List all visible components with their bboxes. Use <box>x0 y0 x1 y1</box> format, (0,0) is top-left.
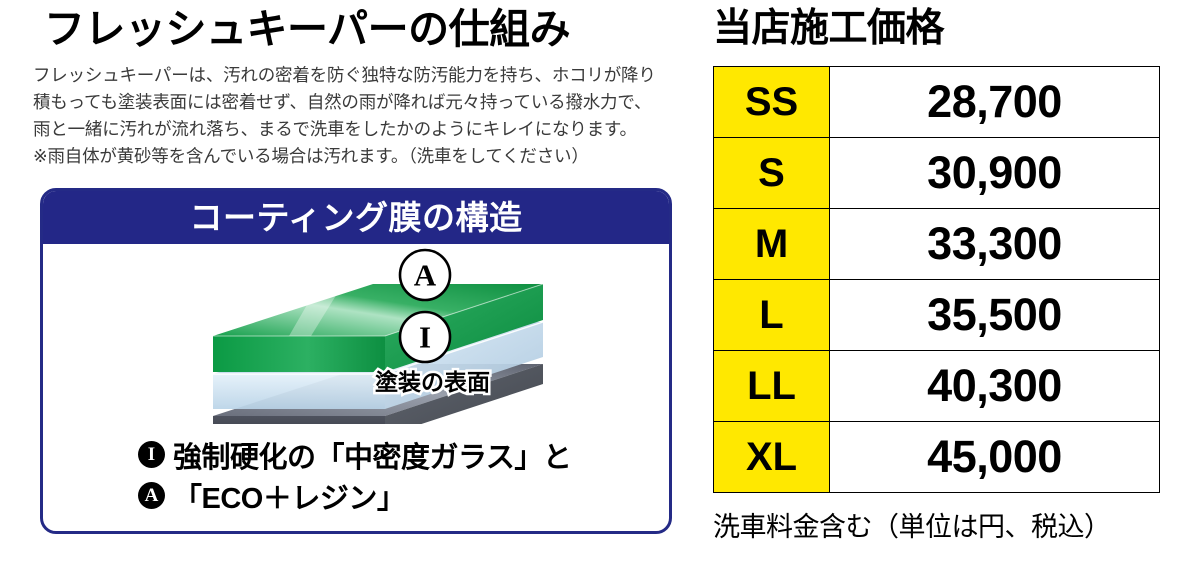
price-table-body: SS28,700S30,900M33,300L35,500LL40,300XL4… <box>714 67 1160 493</box>
price-row-amount: 40,300 <box>830 351 1160 422</box>
panel-header-title: コーティング膜の構造 <box>189 191 522 244</box>
explanation-column: フレッシュキーパーの仕組み フレッシュキーパーは、汚れの密着を防ぐ独特な防汚能力… <box>0 0 700 580</box>
intro-line-1: フレッシュキーパーは、汚れの密着を防ぐ独特な防汚能力を持ち、ホコリが降り <box>33 62 693 89</box>
legend-label-i: 強制硬化の「中密度ガラス」と <box>173 434 571 476</box>
intro-line-3: 雨と一緒に汚れが流れ落ち、まるで洗車をしたかのようにキレイになります。 <box>33 116 693 143</box>
price-row-amount: 30,900 <box>830 138 1160 209</box>
table-row: XL45,000 <box>714 422 1160 493</box>
intro-line-2: 積もっても塗装表面には密着せず、自然の雨が降れば元々持っている撥水力で、 <box>33 89 693 116</box>
legend-bullet-a-icon: A <box>138 482 165 509</box>
layer-badge-i-label: I <box>419 320 431 355</box>
table-row: S30,900 <box>714 138 1160 209</box>
price-footnote: 洗車料金含む（単位は円、税込） <box>713 505 1111 544</box>
price-table-title: 当店施工価格 <box>713 6 944 52</box>
intro-line-4: ※雨自体が黄砂等を含んでいる場合は汚れます。（洗車をしてください） <box>33 143 693 170</box>
layer-badge-a: A <box>400 250 450 300</box>
price-row-size: XL <box>714 422 830 493</box>
table-row: SS28,700 <box>714 67 1160 138</box>
panel-header: コーティング膜の構造 <box>43 191 669 244</box>
price-row-size: S <box>714 138 830 209</box>
layer-legend: I 強制硬化の「中密度ガラス」と A 「ECO＋レジン」 <box>138 434 658 516</box>
layer-badge-a-label: A <box>414 258 437 293</box>
coating-layers-diagram: A I 塗装の表面 <box>43 244 669 424</box>
paint-surface-label: 塗装の表面 <box>375 369 490 395</box>
price-row-size: LL <box>714 351 830 422</box>
price-row-size: L <box>714 280 830 351</box>
legend-bullet-i-icon: I <box>138 441 165 468</box>
table-row: LL40,300 <box>714 351 1160 422</box>
price-row-size: SS <box>714 67 830 138</box>
price-row-size: M <box>714 209 830 280</box>
table-row: L35,500 <box>714 280 1160 351</box>
intro-paragraph: フレッシュキーパーは、汚れの密着を防ぐ独特な防汚能力を持ち、ホコリが降り 積もっ… <box>33 62 693 170</box>
price-row-amount: 33,300 <box>830 209 1160 280</box>
table-row: M33,300 <box>714 209 1160 280</box>
price-row-amount: 28,700 <box>830 67 1160 138</box>
legend-item-i: I 強制硬化の「中密度ガラス」と <box>138 434 658 475</box>
page-title: フレッシュキーパーの仕組み <box>44 5 570 53</box>
legend-label-a: 「ECO＋レジン」 <box>173 475 405 517</box>
layer-badge-i: I <box>400 312 450 362</box>
price-table: SS28,700S30,900M33,300L35,500LL40,300XL4… <box>713 66 1160 493</box>
price-row-amount: 35,500 <box>830 280 1160 351</box>
legend-item-a: A 「ECO＋レジン」 <box>138 475 658 516</box>
price-column: 当店施工価格 SS28,700S30,900M33,300L35,500LL40… <box>700 0 1200 580</box>
price-row-amount: 45,000 <box>830 422 1160 493</box>
coating-structure-panel: コーティング膜の構造 <box>40 188 672 534</box>
